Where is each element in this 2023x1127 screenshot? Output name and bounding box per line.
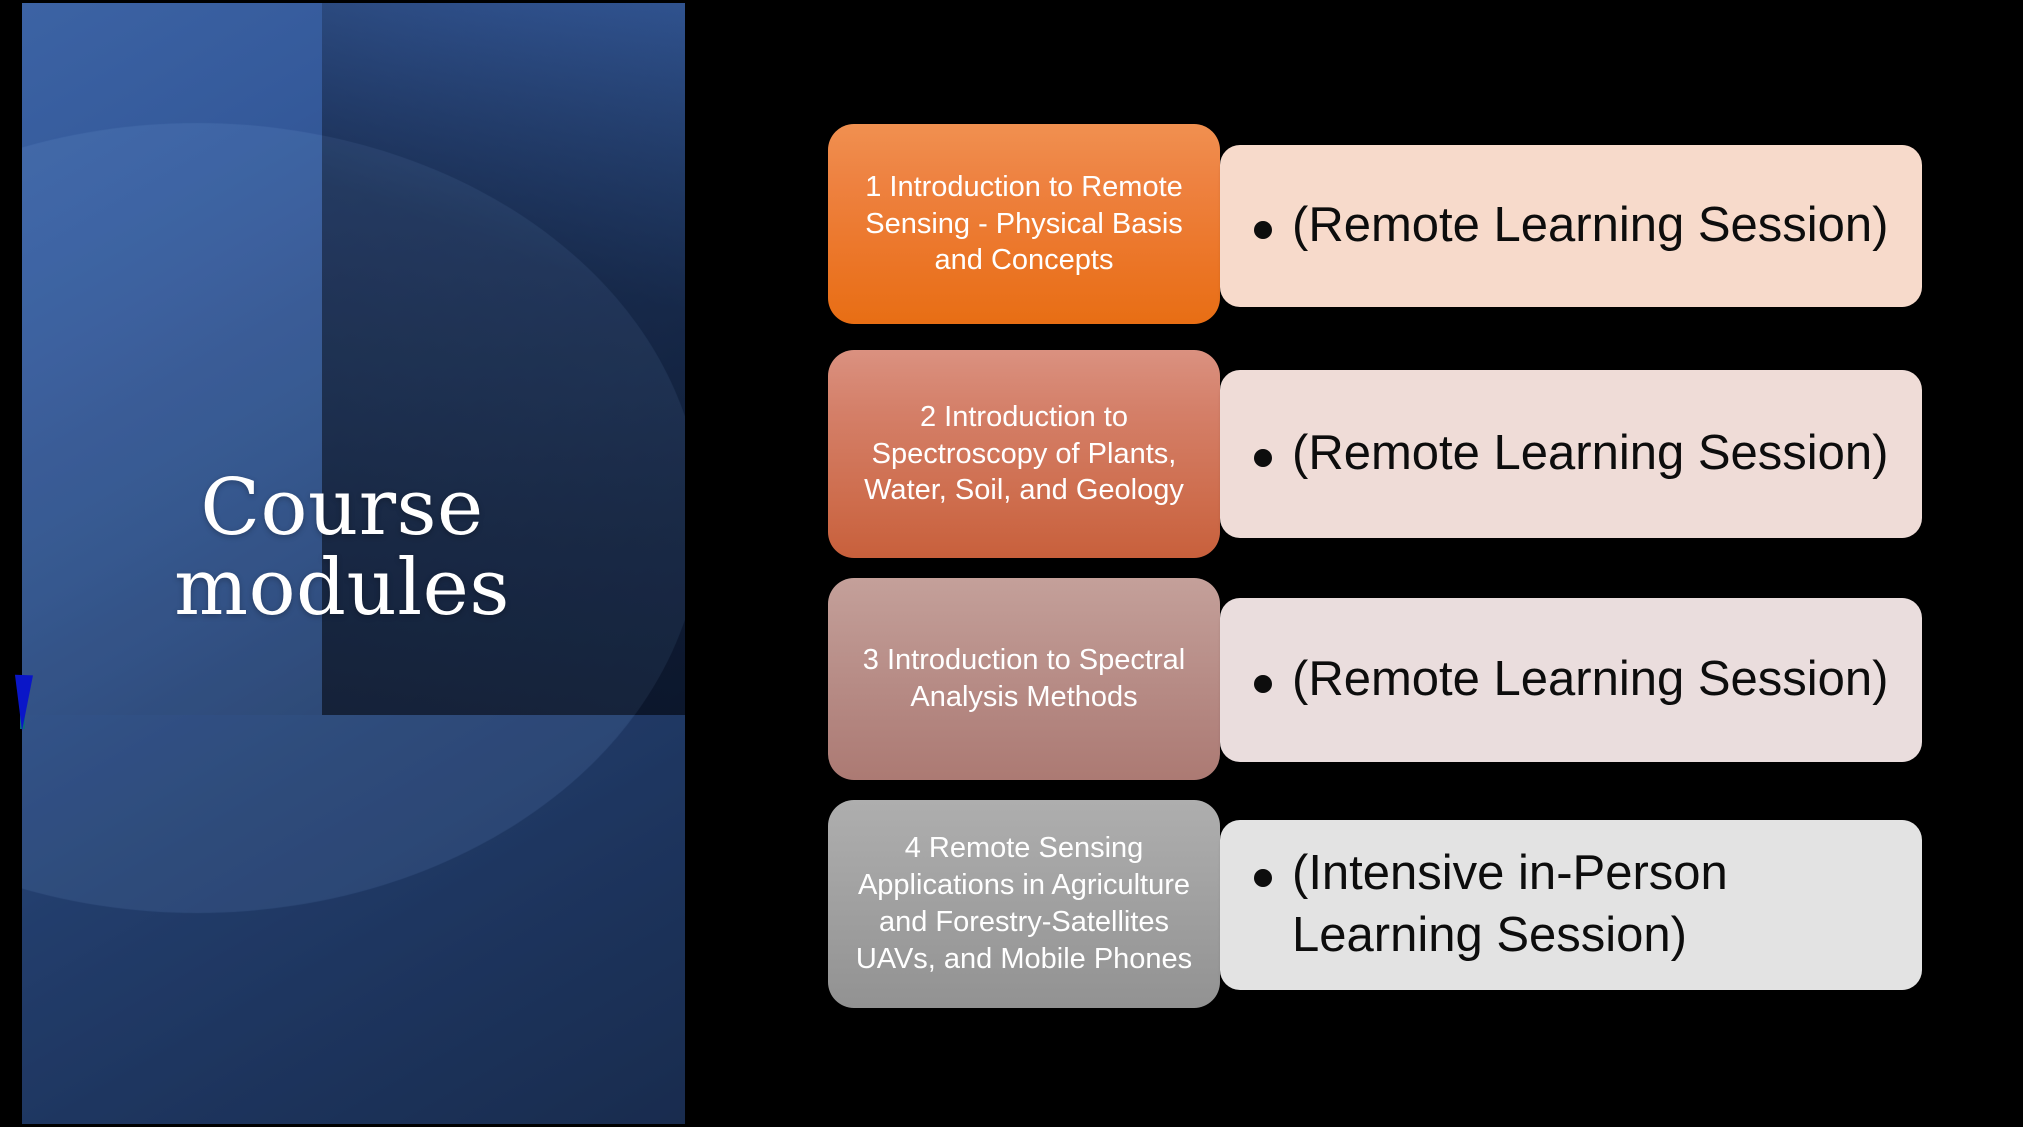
module-label-3: 3 Introduction to Spectral Analysis Meth… — [842, 642, 1206, 716]
bullet-icon — [1254, 675, 1272, 693]
session-box-4[interactable]: (Intensive in-Person Learning Session) — [1220, 820, 1922, 990]
session-label-4: (Intensive in-Person Learning Session) — [1292, 843, 1892, 966]
session-box-2[interactable]: (Remote Learning Session) — [1220, 370, 1922, 538]
bullet-icon — [1254, 869, 1272, 887]
module-box-4[interactable]: 4 Remote Sensing Applications in Agricul… — [828, 800, 1220, 1008]
module-rows: 1 Introduction to Remote Sensing - Physi… — [0, 0, 2023, 1127]
module-box-3[interactable]: 3 Introduction to Spectral Analysis Meth… — [828, 578, 1220, 780]
slide-canvas: Course modules 1 Introduction to Remote … — [0, 0, 2023, 1127]
session-label-1: (Remote Learning Session) — [1292, 195, 1888, 257]
session-box-3[interactable]: (Remote Learning Session) — [1220, 598, 1922, 762]
bullet-icon — [1254, 449, 1272, 467]
bullet-icon — [1254, 221, 1272, 239]
session-label-2: (Remote Learning Session) — [1292, 423, 1888, 485]
module-box-1[interactable]: 1 Introduction to Remote Sensing - Physi… — [828, 124, 1220, 324]
session-box-1[interactable]: (Remote Learning Session) — [1220, 145, 1922, 307]
module-box-2[interactable]: 2 Introduction to Spectroscopy of Plants… — [828, 350, 1220, 558]
module-label-4: 4 Remote Sensing Applications in Agricul… — [842, 830, 1206, 977]
module-label-2: 2 Introduction to Spectroscopy of Plants… — [842, 399, 1206, 509]
session-label-3: (Remote Learning Session) — [1292, 649, 1888, 711]
module-label-1: 1 Introduction to Remote Sensing - Physi… — [842, 169, 1206, 279]
